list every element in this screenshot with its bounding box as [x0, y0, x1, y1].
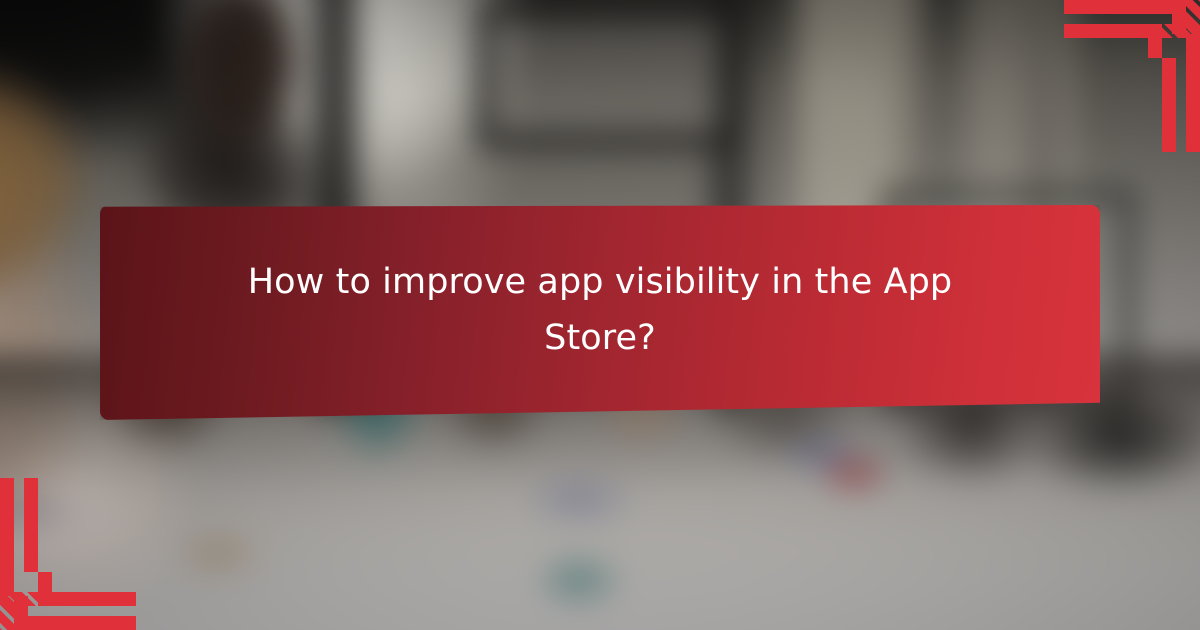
- page-title: How to improve app visibility in the App…: [220, 255, 980, 366]
- title-banner-inner: How to improve app visibility in the App…: [100, 205, 1100, 420]
- title-banner: How to improve app visibility in the App…: [100, 205, 1100, 420]
- hero-card: How to improve app visibility in the App…: [0, 0, 1200, 630]
